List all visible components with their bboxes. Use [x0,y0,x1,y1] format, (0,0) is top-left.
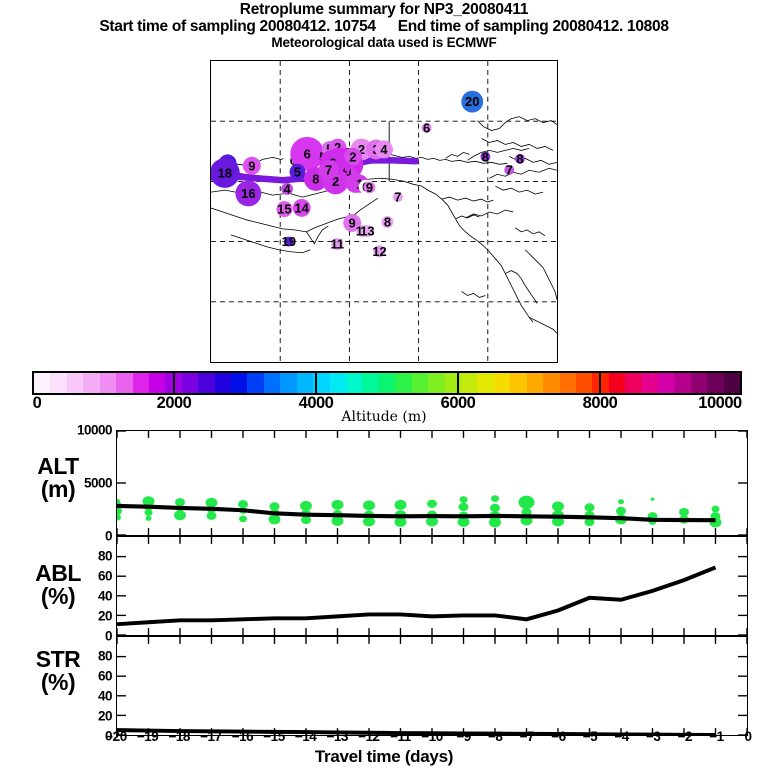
x-tick-label: −19 [137,729,158,744]
x-axis-tick-labels: −20−19−18−17−16−15−14−13−12−11−10−9−8−7−… [0,729,768,747]
y-tick-label: 20 [98,709,112,724]
marker-label-42: 7 [325,163,332,178]
colorbar-segment-2 [67,373,83,393]
colorbar-segment-27 [477,373,493,393]
colorbar-segment-35 [609,373,625,393]
colorbar-axis-title: Altitude (m) [0,409,768,425]
map-marker[interactable]: 4 [375,141,393,159]
map-marker[interactable]: 8 [381,215,393,230]
map-marker-layer[interactable]: 2068876655223413241941858326169164151479… [211,91,525,259]
x-axis-title: Travel time (days) [0,747,768,767]
map-marker[interactable]: 18 [211,158,240,188]
alt-plot-canvas [117,431,747,535]
colorbar-segment-12 [231,373,247,393]
colorbar-segment-24 [428,373,444,393]
x-tick-label: −15 [263,729,284,744]
colorbar-segment-28 [494,373,510,393]
map-marker[interactable]: 15 [276,201,292,217]
alt-y-tick-labels: 0500010000 [0,430,112,536]
colorbar-segment-33 [576,373,592,393]
x-tick-label: −14 [295,729,316,744]
marker-label-15: 2 [349,149,356,164]
map-marker[interactable]: 8 [515,151,525,166]
str-x-ticks [117,637,747,735]
abl-plot-canvas [117,537,747,635]
x-tick-label: −16 [232,729,253,744]
x-tick-label: −20 [105,729,126,744]
colorbar-segment-31 [543,373,559,393]
colorbar-gradient [34,373,740,393]
colorbar-segment-22 [395,373,411,393]
x-tick-label: −2 [678,729,692,744]
marker-label-38: 19 [282,234,296,249]
marker-label-28: 9 [366,180,373,195]
marker-label-34: 9 [349,216,356,231]
y-tick-label: 10000 [77,423,112,438]
retroplume-map[interactable]: 2068876655223413241941858326169164151479… [210,60,558,363]
abl-data-line [117,567,716,624]
altitude-colorbar [32,371,742,395]
colorbar-segment-5 [116,373,132,393]
marker-label-39: 11 [330,237,344,252]
y-tick-label: 40 [98,589,112,604]
map-marker[interactable]: 14 [293,199,311,217]
colorbar-divider-2 [457,371,459,395]
y-tick-label: 60 [98,669,112,684]
start-time-label: Start time of sampling 20080412. 10754 [99,18,375,35]
colorbar-segment-1 [50,373,66,393]
y-tick-label: 60 [98,569,112,584]
str-y-ticks [117,657,747,735]
end-time-label: End time of sampling 20080412. 10808 [398,18,669,35]
y-tick-label: 20 [98,609,112,624]
marker-label-22: 8 [312,172,319,187]
map-graticule [211,61,557,362]
marker-label-4: 7 [506,163,513,178]
str-plot-canvas [117,637,747,735]
met-data-label: Meteorological data used is ECMWF [0,35,768,50]
colorbar-segment-42 [724,373,740,393]
map-marker[interactable]: 9 [364,180,376,195]
marker-label-29: 16 [241,186,255,201]
map-marker[interactable]: 7 [393,190,403,205]
colorbar-divider-3 [599,371,601,395]
map-marker[interactable]: 8 [480,149,490,164]
marker-label-30: 4 [284,181,292,196]
marker-label-12: 4 [380,142,388,157]
marker-label-1: 6 [423,120,430,135]
marker-label-33: 7 [394,190,401,205]
colorbar-segment-0 [34,373,50,393]
map-marker[interactable]: 20 [461,91,483,113]
y-tick-label: 40 [98,689,112,704]
map-marker[interactable]: 16 [235,181,261,207]
colorbar-segment-38 [658,373,674,393]
marker-label-6: 6 [304,146,311,161]
x-tick-label: −7 [520,729,534,744]
colorbar-segment-6 [133,373,149,393]
marker-label-31: 15 [277,202,291,217]
alt-plot[interactable] [116,430,748,536]
colorbar-segment-13 [247,373,263,393]
map-marker[interactable]: 9 [243,157,261,175]
x-tick-label: −11 [390,729,411,744]
colorbar-segment-10 [198,373,214,393]
map-marker[interactable]: 7 [319,160,339,180]
alt-scatter-points [117,495,721,527]
colorbar-segment-11 [215,373,231,393]
colorbar-segment-9 [182,373,198,393]
colorbar-segment-19 [346,373,362,393]
abl-y-tick-labels: 020406080 [0,536,112,636]
marker-label-0: 20 [465,94,479,109]
x-tick-label: −9 [456,729,470,744]
x-tick-label: −17 [200,729,221,744]
marker-label-37: 13 [360,224,374,239]
x-tick-label: −10 [421,729,442,744]
colorbar-divider-0 [173,371,175,395]
colorbar-segment-36 [625,373,641,393]
colorbar-segment-14 [264,373,280,393]
str-plot[interactable] [116,636,748,736]
y-tick-label: 80 [98,649,112,664]
x-tick-label: −13 [326,729,347,744]
colorbar-segment-26 [461,373,477,393]
title-block: Retroplume summary for NP3_20080411 Star… [0,0,768,49]
colorbar-segment-40 [691,373,707,393]
colorbar-segment-37 [642,373,658,393]
y-tick-label: 5000 [84,476,112,491]
colorbar-segment-4 [100,373,116,393]
x-tick-label: −18 [168,729,189,744]
abl-plot[interactable] [116,536,748,636]
colorbar-segment-3 [83,373,99,393]
map-marker[interactable]: 6 [422,120,432,135]
x-tick-label: 0 [744,729,751,744]
map-marker[interactable]: 13 [360,224,374,239]
marker-label-21: 5 [294,164,301,179]
colorbar-segment-29 [510,373,526,393]
colorbar-segment-7 [149,373,165,393]
sampling-time-line: Start time of sampling 20080412. 10754En… [0,18,768,35]
map-marker[interactable]: 5 [290,164,306,180]
marker-label-3: 8 [516,151,523,166]
map-marker[interactable]: 19 [282,234,296,249]
colorbar-segment-15 [280,373,296,393]
x-tick-label: −6 [551,729,565,744]
colorbar-segment-20 [362,373,378,393]
marker-label-18: 9 [248,158,255,173]
map-marker[interactable]: 12 [372,244,386,259]
marker-label-20: 18 [218,166,232,181]
page-title: Retroplume summary for NP3_20080411 [0,0,768,18]
x-tick-label: −3 [646,729,660,744]
marker-label-35: 8 [384,215,391,230]
colorbar-segment-16 [297,373,313,393]
colorbar-segment-39 [674,373,690,393]
colorbar-segment-18 [330,373,346,393]
marker-label-2: 8 [482,149,489,164]
colorbar-divider-1 [315,371,317,395]
colorbar-segment-41 [707,373,723,393]
marker-label-32: 14 [294,200,309,215]
map-canvas: 2068876655223413241941858326169164151479… [211,61,557,362]
abl-y-ticks [117,557,747,635]
str-y-tick-labels: 020406080 [0,636,112,736]
colorbar-segment-30 [527,373,543,393]
colorbar-segment-32 [560,373,576,393]
colorbar-segment-21 [379,373,395,393]
map-marker[interactable]: 11 [330,237,344,252]
alt-mean-line [117,506,716,520]
x-tick-label: −4 [614,729,628,744]
marker-label-40: 12 [372,244,386,259]
x-tick-label: −5 [583,729,597,744]
map-marker[interactable]: 7 [504,163,514,178]
y-tick-label: 80 [98,549,112,564]
x-tick-label: −12 [358,729,379,744]
x-tick-label: −8 [488,729,502,744]
colorbar-segment-23 [412,373,428,393]
x-tick-label: −1 [709,729,723,744]
